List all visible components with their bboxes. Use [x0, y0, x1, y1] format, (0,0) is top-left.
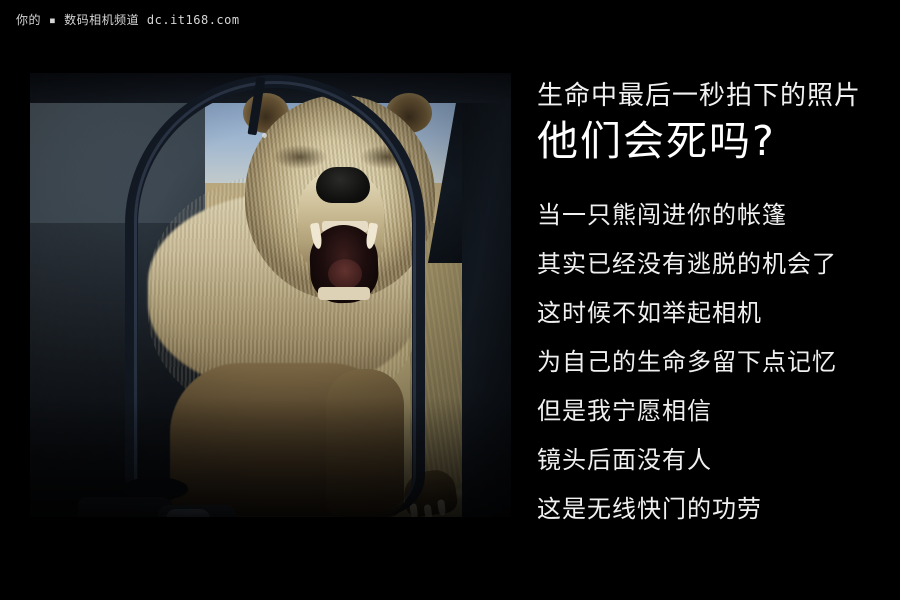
bear-claw	[437, 499, 446, 516]
tent-strap-eyelet	[262, 133, 267, 138]
body-line: 其实已经没有逃脱的机会了	[537, 240, 893, 289]
body-line: 但是我宁愿相信	[537, 387, 893, 436]
body-line: 为自己的生命多留下点记忆	[537, 338, 893, 387]
bear-claw	[424, 504, 433, 517]
body-line: 镜头后面没有人	[537, 436, 893, 485]
tent-gear-bag-highlight	[166, 509, 210, 517]
body-line: 当一只熊闯进你的帐篷	[537, 191, 893, 240]
body-text-block: 当一只熊闯进你的帐篷 其实已经没有逃脱的机会了 这时候不如举起相机 为自己的生命…	[537, 191, 893, 534]
headline-subtitle: 生命中最后一秒拍下的照片	[537, 79, 893, 113]
body-line: 这是无线快门的功劳	[537, 485, 893, 534]
body-line: 这时候不如举起相机	[537, 289, 893, 338]
bear-photo	[30, 73, 511, 517]
tent-door-rim-highlight	[134, 81, 416, 511]
tent-right-flap	[462, 73, 511, 517]
watermark-text: 你的 ▪ 数码相机频道 dc.it168.com	[16, 12, 240, 28]
text-column: 生命中最后一秒拍下的照片 他们会死吗? 当一只熊闯进你的帐篷 其实已经没有逃脱的…	[537, 73, 893, 534]
headline-title: 他们会死吗?	[537, 115, 893, 167]
watermark-bar: 你的 ▪ 数码相机频道 dc.it168.com	[0, 0, 900, 40]
